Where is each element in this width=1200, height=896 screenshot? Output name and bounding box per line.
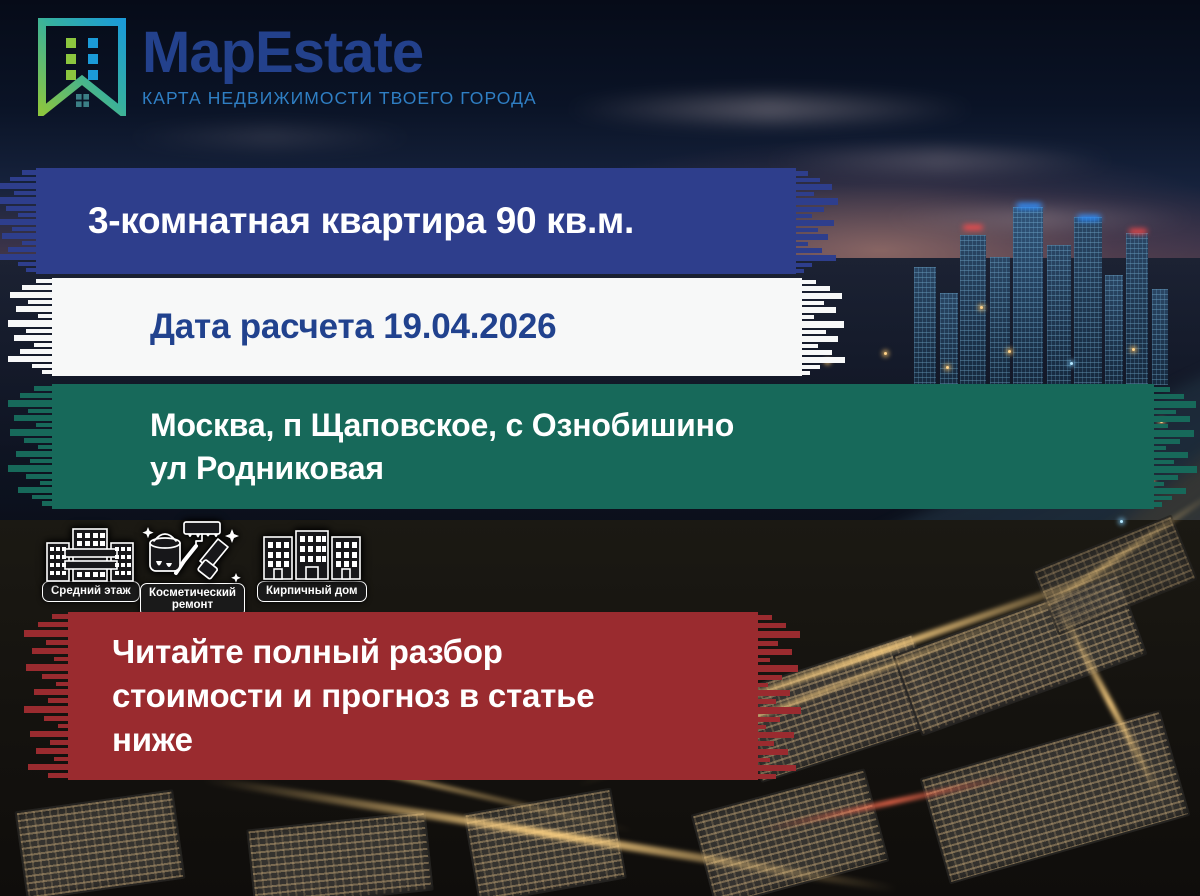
brand-tagline: КАРТА НЕДВИЖИМОСТИ ТВОЕГО ГОРОДА [142,88,537,109]
cta-line-1: Читайте полный разбор [112,630,732,674]
feature-badge-floor[interactable]: Средний этаж [42,523,140,602]
brand-name: MapEstate [142,25,537,80]
brick-house-icon [260,523,364,585]
feature-label-renovation-line1: Косметический [149,587,236,599]
address-line-2: ул Родниковая [150,447,1154,489]
paint-roller-bucket-brush-icon [140,517,244,587]
feature-badges: Средний этаж [42,515,422,607]
brand-logo[interactable]: MapEstate КАРТА НЕДВИЖИМОСТИ ТВОЕГО ГОРО… [36,18,537,116]
bookmark-building-icon [36,18,128,116]
property-title-band: 3-комнатная квартира 90 кв.м. [36,168,796,274]
address-line-1: Москва, п Щаповское, с Ознобишино [150,404,1154,446]
calculation-date-band: Дата расчета 19.04.2026 [52,278,802,376]
address-band: Москва, п Щаповское, с Ознобишино ул Род… [52,384,1154,509]
background-skyscrapers [900,195,1200,385]
poster-canvas: MapEstate КАРТА НЕДВИЖИМОСТИ ТВОЕГО ГОРО… [0,0,1200,896]
feature-badge-renovation[interactable]: Косметический ремонт [140,517,245,617]
cta-band[interactable]: Читайте полный разбор стоимости и прогно… [68,612,758,780]
calculation-date: Дата расчета 19.04.2026 [150,307,802,347]
apartment-building-icon [43,523,139,585]
cta-line-3: ниже [112,718,732,762]
brand-text: MapEstate КАРТА НЕДВИЖИМОСТИ ТВОЕГО ГОРО… [142,25,537,108]
property-title: 3-комнатная квартира 90 кв.м. [88,200,796,242]
feature-label-renovation-line2: ремонт [172,599,213,611]
cta-line-2: стоимости и прогноз в статье [112,674,732,718]
feature-badge-brick-house[interactable]: Кирпичный дом [257,523,367,602]
